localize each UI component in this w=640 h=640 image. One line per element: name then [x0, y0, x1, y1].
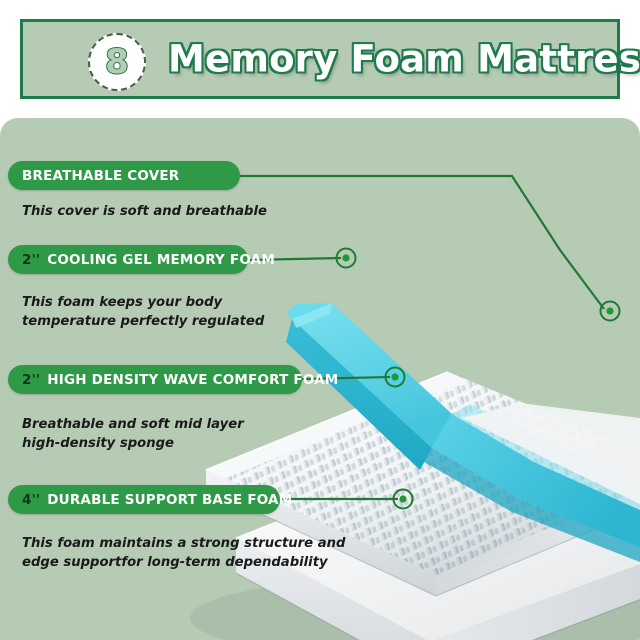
header-band: 8 Memory Foam Mattress: [20, 19, 620, 99]
pill-thickness-text: 4'': [22, 492, 40, 508]
label-high-density-wave-comfort-foam[interactable]: 2'' HIGH DENSITY WAVE COMFORT FOAM: [8, 365, 302, 394]
infographic-root: 8 Memory Foam Mattress: [0, 0, 640, 640]
description-high-density-wave-comfort-foam: Breathable and soft mid layer high-densi…: [22, 415, 244, 453]
description-breathable-cover: This cover is soft and breathable: [22, 202, 267, 221]
step-number-text: 8: [105, 45, 129, 79]
marker-base-foam: [394, 490, 413, 509]
pill-label-text: COOLING GEL MEMORY FOAM: [47, 252, 275, 268]
label-cooling-gel-memory-foam[interactable]: 2'' COOLING GEL MEMORY FOAM: [8, 245, 248, 274]
pill-thickness-text: 2'': [22, 372, 40, 388]
layer-cooling-gel-cover: [286, 303, 640, 562]
pill-label-text: DURABLE SUPPORT BASE FOAM: [47, 492, 292, 508]
description-durable-support-base-foam: This foam maintains a strong structure a…: [22, 534, 345, 572]
page-title: Memory Foam Mattress: [168, 38, 640, 81]
step-number-badge: 8: [88, 33, 146, 91]
marker-group: [337, 249, 620, 509]
label-durable-support-base-foam[interactable]: 4'' DURABLE SUPPORT BASE FOAM: [8, 485, 280, 514]
label-breathable-cover[interactable]: BREATHABLE COVER: [8, 161, 240, 190]
marker-cooling-gel: [337, 249, 356, 268]
pill-label-text: HIGH DENSITY WAVE COMFORT FOAM: [47, 372, 338, 388]
description-cooling-gel-memory-foam: This foam keeps your body temperature pe…: [22, 293, 264, 331]
marker-breathable-cover: [601, 302, 620, 321]
marker-wave-comfort: [386, 368, 405, 387]
pill-label-text: BREATHABLE COVER: [22, 168, 179, 184]
pill-thickness-text: 2'': [22, 252, 40, 268]
